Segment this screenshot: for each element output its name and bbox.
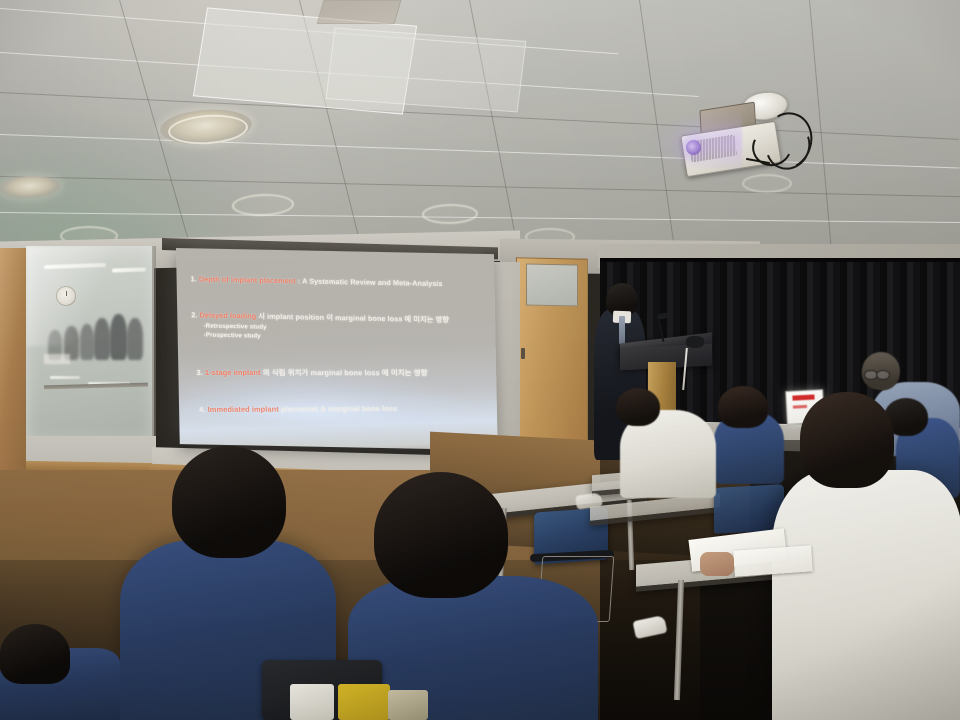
- projector-lens-glow: [652, 112, 742, 168]
- paper-cup: [290, 684, 334, 720]
- presenter-necktie: [619, 316, 625, 344]
- slide-line-4: 4. Immediated implant placement & margin…: [199, 403, 487, 414]
- ceiling-access-hatch: [317, 0, 402, 24]
- slide-line-3: 3. 1-stage implant 의 식립 위치가 marginal bon…: [196, 367, 486, 379]
- slide-line-1: 1. Depth of implant placement : A System…: [190, 274, 484, 289]
- audience-white-coat-head: [616, 388, 660, 426]
- slide-line-3-rest: 의 식립 위치가 marginal bone loss 에 미치는 영향: [260, 368, 427, 377]
- audience-navy-scrubs-foreground-head-corner: [0, 624, 70, 684]
- slide-line-3-number: 3.: [196, 368, 203, 377]
- recessed-downlight-ring: [742, 174, 792, 193]
- presentation-slide: 1. Depth of implant placement : A System…: [176, 248, 498, 450]
- slide-line-2-highlight: Delayed loading: [199, 310, 256, 320]
- door-glass-panel: [526, 263, 578, 306]
- slide-line-1-highlight: Depth of implant placement: [199, 274, 296, 285]
- snack-package: [388, 690, 428, 720]
- lecture-hall-photo: 1. Depth of implant placement : A System…: [0, 0, 960, 720]
- slide-line-4-highlight: Immediated implant: [207, 405, 279, 414]
- glass-reflection: [26, 246, 154, 346]
- snack-package: [338, 684, 390, 720]
- slide-line-4-rest: placement & marginal bone loss: [279, 404, 398, 414]
- audience-navy-scrubs-foreground-head-left: [172, 446, 286, 558]
- audience-hand: [700, 552, 734, 576]
- slide-line-1-rest: : A Systematic Review and Meta-Analysis: [296, 276, 443, 288]
- adjacent-room-rail: [44, 383, 148, 390]
- projection-screen: 1. Depth of implant placement : A System…: [176, 248, 498, 450]
- laptop-screen-content: [793, 405, 807, 409]
- audience-white-coat-foreground-body: [772, 470, 960, 720]
- slide-line-2-rest: 시 implant position 이 marginal bone loss …: [256, 312, 449, 325]
- adjacent-room-table: [44, 354, 70, 364]
- slide-line-3-highlight: 1-stage implant: [205, 368, 261, 377]
- ceiling: [0, 0, 960, 248]
- laptop-screen-content: [792, 394, 814, 400]
- ceiling-panel: [326, 28, 527, 113]
- handout-paper: [733, 545, 813, 576]
- glass-partition: [26, 246, 154, 442]
- microphone-base: [686, 336, 704, 348]
- slide-line-4-number: 4.: [199, 405, 206, 414]
- door-handle: [521, 348, 525, 359]
- adjacent-room-ceiling-light-reflection: [50, 376, 80, 379]
- audience-white-coat-foreground-head: [800, 392, 894, 488]
- audience-navy-scrubs-foreground-head-center: [374, 472, 508, 598]
- eyeglasses: [876, 370, 890, 380]
- projection-screen-assembly: 1. Depth of implant placement : A System…: [148, 238, 502, 464]
- slide-line-1-number: 1.: [190, 274, 196, 283]
- audience-navy-scrubs-head: [718, 386, 768, 428]
- slide-line-2-number: 2.: [191, 310, 197, 319]
